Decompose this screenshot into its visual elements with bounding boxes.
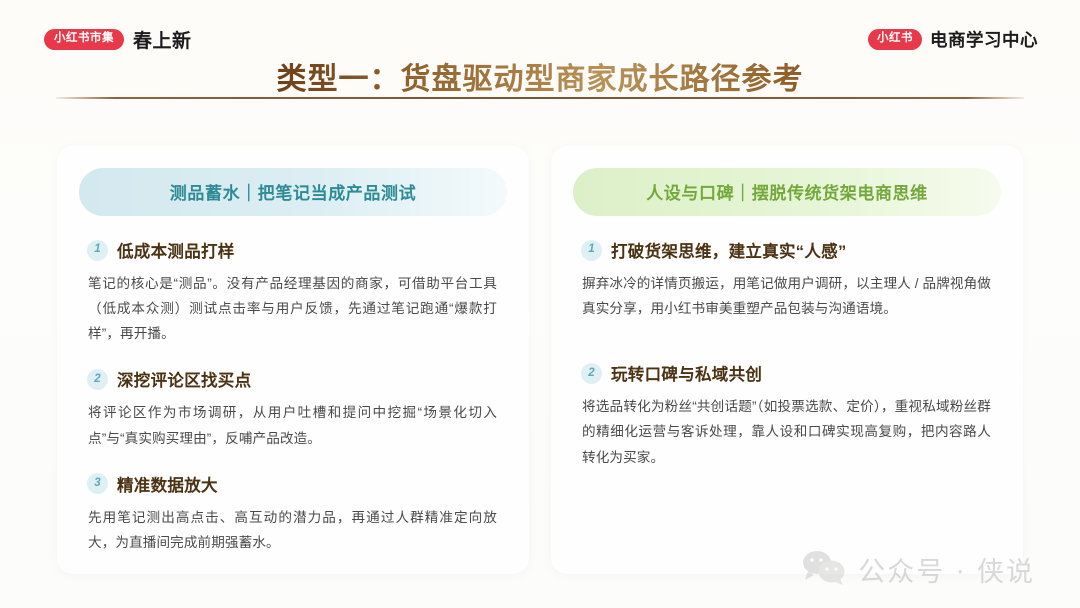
item-title: 低成本测品打样	[117, 238, 235, 262]
item-head: 3 精准数据放大	[87, 472, 497, 496]
title-divider	[56, 97, 1024, 99]
item-number-badge: 2	[581, 363, 602, 384]
item-body: 先用笔记测出高点击、高互动的潜力品，再通过人群精准定向放大，为直播间完成前期强蓄…	[87, 505, 497, 555]
item-title: 打破货架思维，建立真实“人感”	[611, 238, 847, 262]
wechat-icon	[802, 549, 846, 590]
watermark-text: 公众号 · 侠说	[858, 550, 1035, 589]
item-body: 摒弃冰冷的详情页搬运，用笔记做用户调研，以主理人 / 品牌视角做真实分享，用小红…	[581, 271, 991, 321]
list-item: 2 深挖评论区找买点 将评论区作为市场调研，从用户吐槽和提问中挖掘“场景化切入点…	[79, 367, 507, 450]
item-head: 1 低成本测品打样	[87, 238, 497, 262]
xiaohongshu-badge: 小红书	[868, 29, 922, 50]
list-item: 2 玩转口碑与私域共创 将选品转化为粉丝“共创话题”（如投票选款、定价），重视私…	[573, 361, 1001, 469]
item-head: 2 深挖评论区找买点	[87, 367, 497, 391]
list-item: 1 打破货架思维，建立真实“人感” 摒弃冰冷的详情页搬运，用笔记做用户调研，以主…	[573, 238, 1001, 321]
page-title-wrap: 类型一：货盘驱动型商家成长路径参考	[0, 54, 1080, 98]
watermark: 公众号 · 侠说	[802, 549, 1035, 590]
card-persona-reputation: 人设与口碑｜摆脱传统货架电商思维 1 打破货架思维，建立真实“人感” 摒弃冰冷的…	[551, 146, 1023, 574]
xiaohongshu-market-badge: 小红书市集	[44, 29, 124, 50]
cards-container: 测品蓄水｜把笔记当成产品测试 1 低成本测品打样 笔记的核心是“测品”。没有产品…	[57, 146, 1023, 574]
item-number-badge: 1	[581, 240, 602, 261]
page-title: 类型一：货盘驱动型商家成长路径参考	[277, 54, 804, 98]
list-item: 3 精准数据放大 先用笔记测出高点击、高互动的潜力品，再通过人群精准定向放大，为…	[79, 472, 507, 555]
item-number-badge: 1	[87, 240, 108, 261]
item-number-badge: 2	[87, 369, 108, 390]
item-title: 玩转口碑与私域共创	[611, 361, 762, 385]
item-body: 笔记的核心是“测品”。没有产品经理基因的商家，可借助平台工具（低成本众测）测试点…	[87, 271, 497, 346]
item-title: 深挖评论区找买点	[117, 367, 251, 391]
item-head: 1 打破货架思维，建立真实“人感”	[581, 238, 991, 262]
list-item: 1 低成本测品打样 笔记的核心是“测品”。没有产品经理基因的商家，可借助平台工具…	[79, 238, 507, 346]
card-header-right: 人设与口碑｜摆脱传统货架电商思维	[573, 168, 1001, 216]
card-header-left: 测品蓄水｜把笔记当成产品测试	[79, 168, 507, 216]
item-title: 精准数据放大	[117, 472, 218, 496]
card-measurement-reserve: 测品蓄水｜把笔记当成产品测试 1 低成本测品打样 笔记的核心是“测品”。没有产品…	[57, 146, 529, 574]
brand-right-label: 电商学习中心	[930, 27, 1038, 52]
brand-left-label: 春上新	[133, 26, 192, 53]
item-body: 将选品转化为粉丝“共创话题”（如投票选款、定价），重视私域粉丝群的精细化运营与客…	[581, 394, 991, 469]
brand-right: 小红书 电商学习中心	[868, 27, 1038, 52]
item-number-badge: 3	[87, 473, 108, 494]
item-head: 2 玩转口碑与私域共创	[581, 361, 991, 385]
item-body: 将评论区作为市场调研，从用户吐槽和提问中挖掘“场景化切入点”与“真实购买理由”，…	[87, 400, 497, 450]
brand-left: 小红书市集 春上新	[44, 26, 192, 53]
